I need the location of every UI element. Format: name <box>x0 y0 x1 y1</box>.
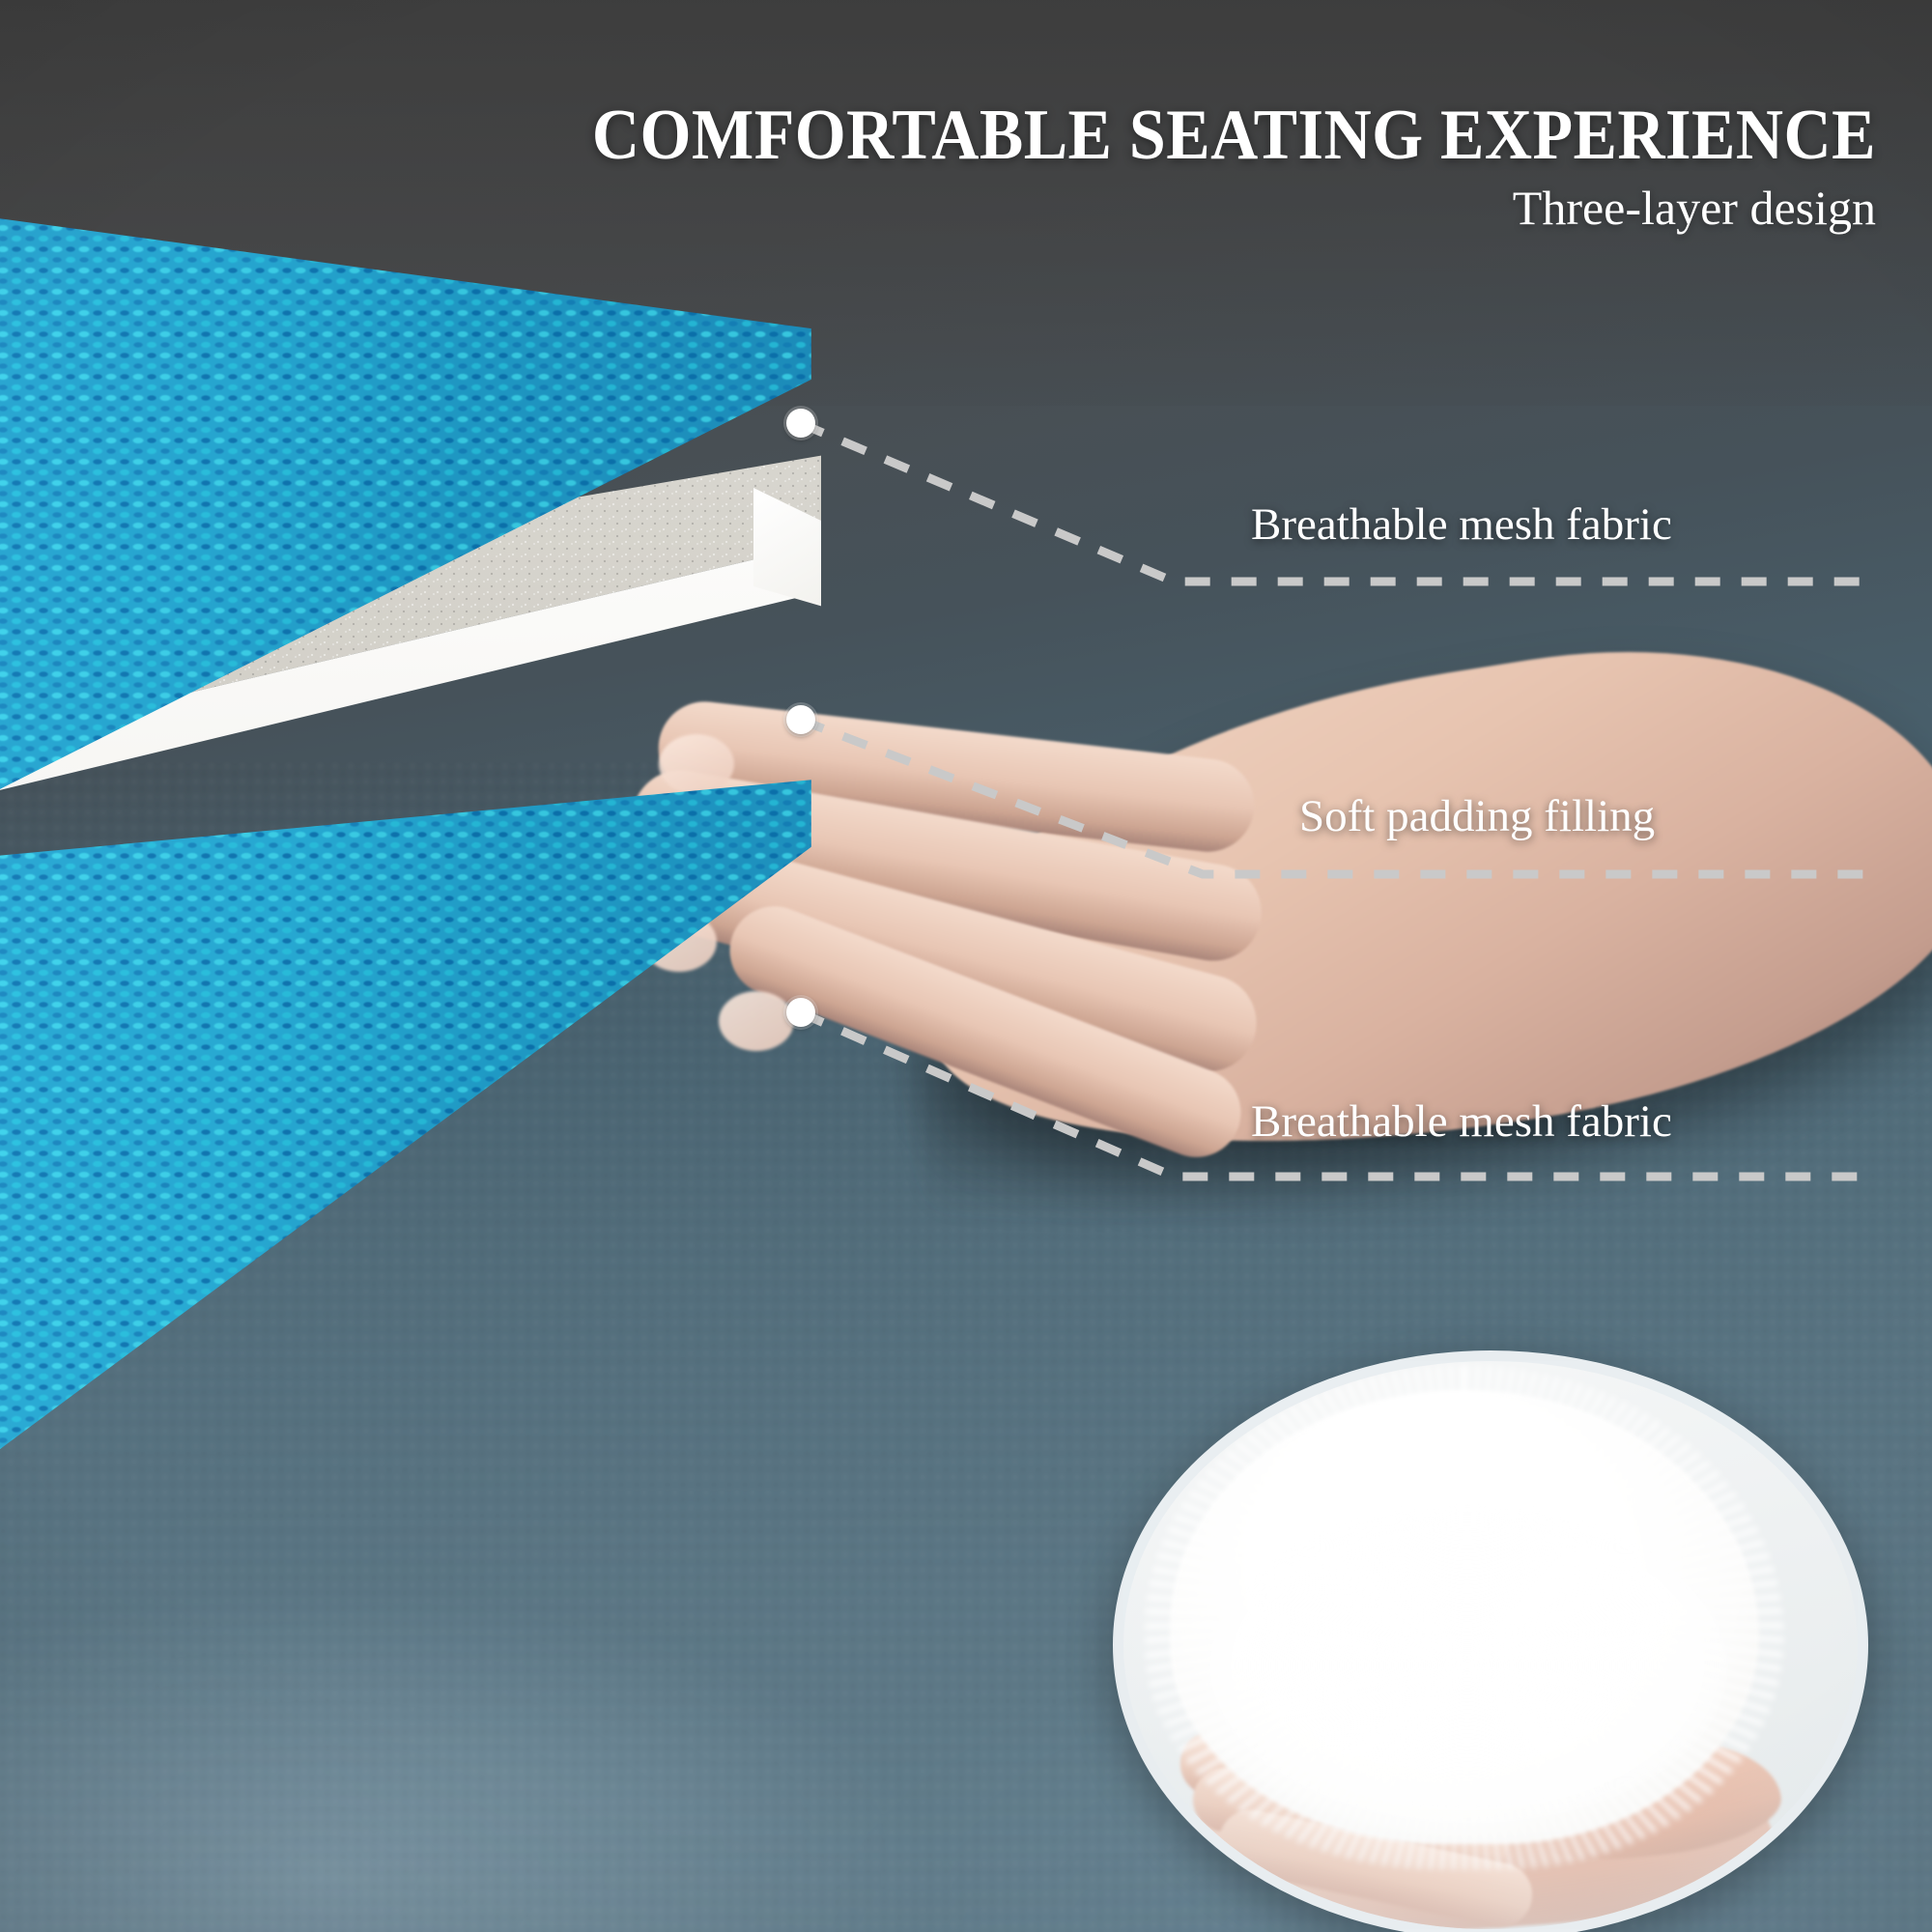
callout-label-bottom-mesh: Breathable mesh fabric <box>1251 1095 1672 1148</box>
callout-dot-top-mesh[interactable] <box>786 409 815 438</box>
hand-nail-index <box>659 734 734 794</box>
callout-label-top-mesh: Breathable mesh fabric <box>1251 498 1672 551</box>
hand-nail-little <box>719 991 794 1051</box>
callout-dot-padding[interactable] <box>786 705 815 734</box>
callout-dot-bottom-mesh[interactable] <box>786 998 815 1027</box>
page-title: COMFORTABLE SEATING EXPERIENCE <box>150 95 1876 177</box>
callout-label-padding: Soft padding filling <box>1299 790 1655 842</box>
fiberfill-inset-photo <box>1113 1350 1868 1932</box>
fiberfill-highlight <box>1207 1506 1728 1825</box>
product-infographic: COMFORTABLE SEATING EXPERIENCE Three-lay… <box>0 0 1932 1932</box>
page-subtitle: Three-layer design <box>0 180 1876 236</box>
